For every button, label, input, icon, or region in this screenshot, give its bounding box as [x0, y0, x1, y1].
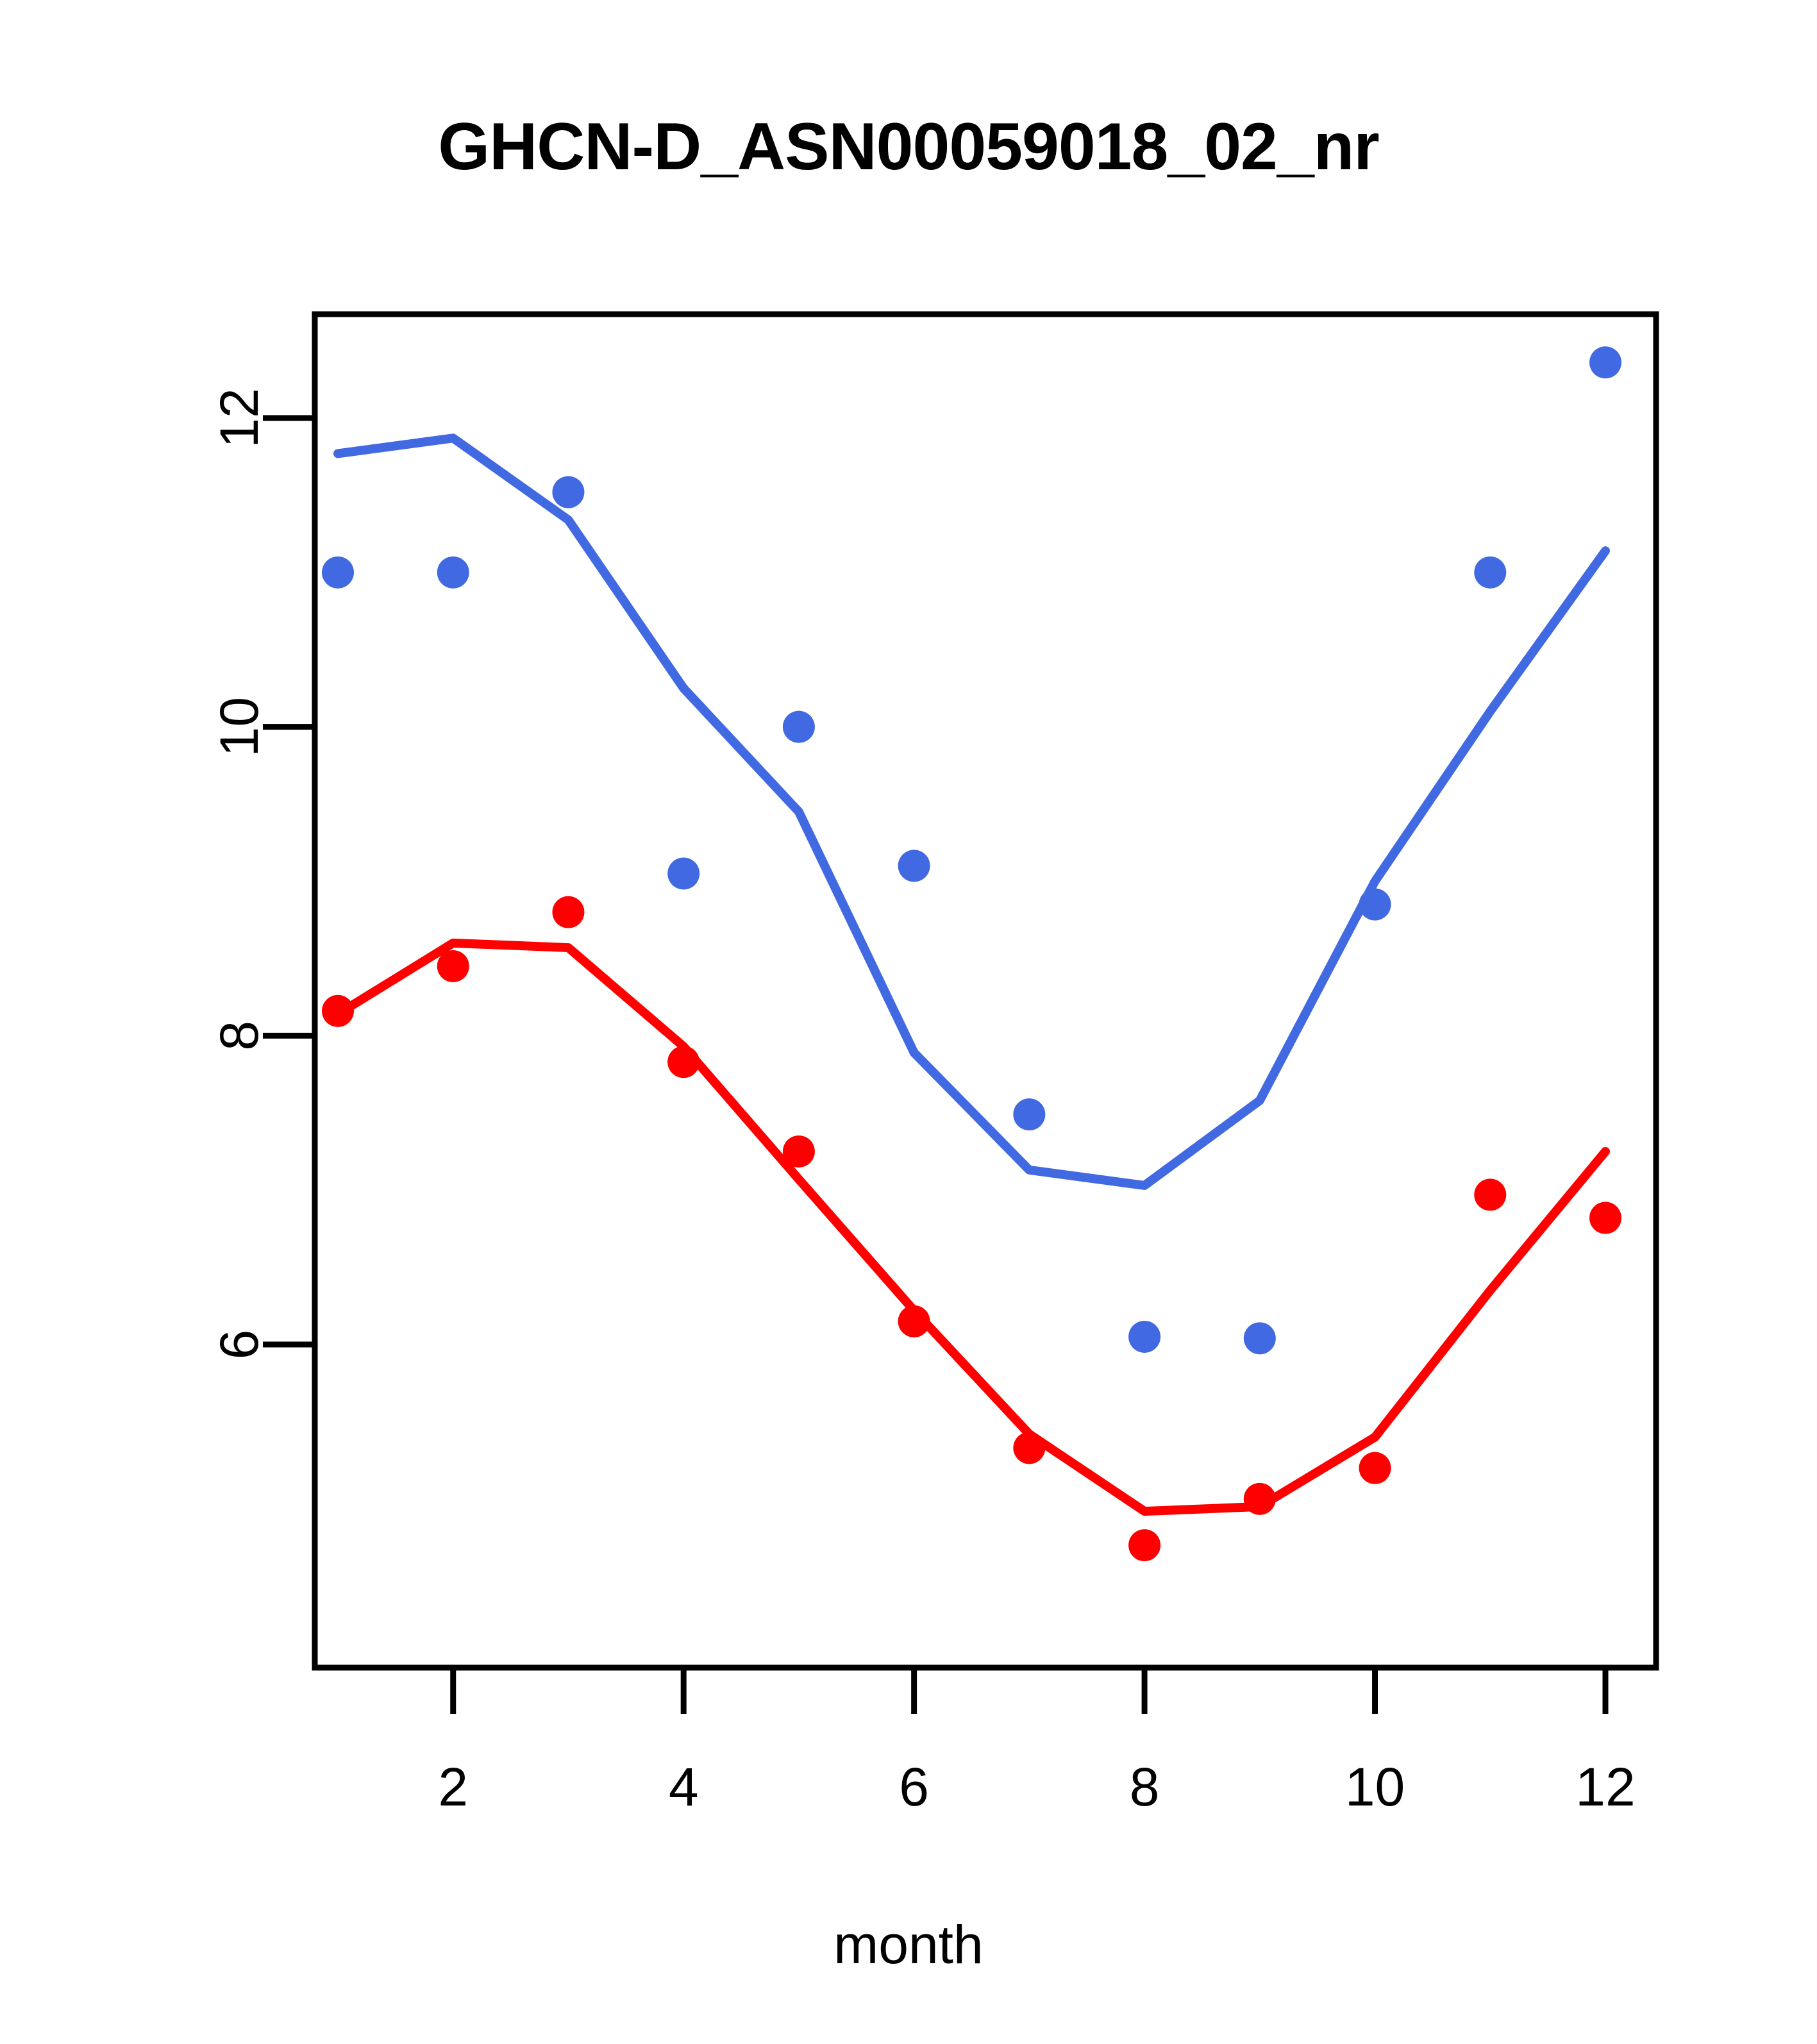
x-tick-label: 8 [1130, 1757, 1160, 1817]
data-point [1013, 1432, 1045, 1464]
y-tick-label: 6 [209, 1330, 269, 1360]
data-point [783, 711, 815, 743]
data-point [1128, 1529, 1160, 1561]
data-point [783, 1135, 815, 1168]
x-tick-label: 2 [438, 1757, 468, 1817]
x-tick-label: 12 [1575, 1757, 1635, 1817]
x-tick-label: 4 [669, 1757, 699, 1817]
data-series-layer [322, 346, 1621, 1561]
x-tick-label: 6 [899, 1757, 929, 1817]
x-axis-ticks: 24681012 [438, 1668, 1635, 1817]
data-point [1589, 1202, 1621, 1234]
data-point [667, 857, 699, 889]
data-point [322, 995, 354, 1027]
plot-frame [315, 314, 1656, 1668]
data-point [1589, 346, 1621, 378]
x-tick-label: 10 [1345, 1757, 1405, 1817]
data-point [1474, 1178, 1506, 1210]
y-axis-ticks: 681012 [209, 388, 315, 1359]
series-points-4169E1 [322, 346, 1621, 1354]
series-points-FF0000 [322, 896, 1621, 1561]
figure-canvas: GHCN-D_ASN00059018_02_nr 681012 24681012… [0, 0, 1817, 2044]
x-axis-label: month [0, 1914, 1817, 1976]
data-point [667, 1046, 699, 1078]
series-line-4169E1 [338, 438, 1605, 1185]
data-point [1359, 1452, 1391, 1484]
data-point [552, 896, 584, 928]
data-point [898, 1305, 930, 1337]
y-tick-label: 12 [209, 388, 269, 448]
data-point [898, 850, 930, 882]
data-point [1013, 1098, 1045, 1130]
data-point [1359, 889, 1391, 921]
data-point [1244, 1322, 1276, 1354]
data-point [322, 557, 354, 589]
y-tick-label: 8 [209, 1021, 269, 1051]
data-point [1474, 557, 1506, 589]
data-point [437, 950, 469, 982]
y-tick-label: 10 [209, 697, 269, 757]
data-point [437, 557, 469, 589]
series-line-FF0000 [338, 943, 1605, 1511]
data-point [552, 476, 584, 508]
data-point [1128, 1321, 1160, 1353]
plot-area: 681012 24681012 [0, 0, 1817, 2044]
data-point [1244, 1483, 1276, 1515]
